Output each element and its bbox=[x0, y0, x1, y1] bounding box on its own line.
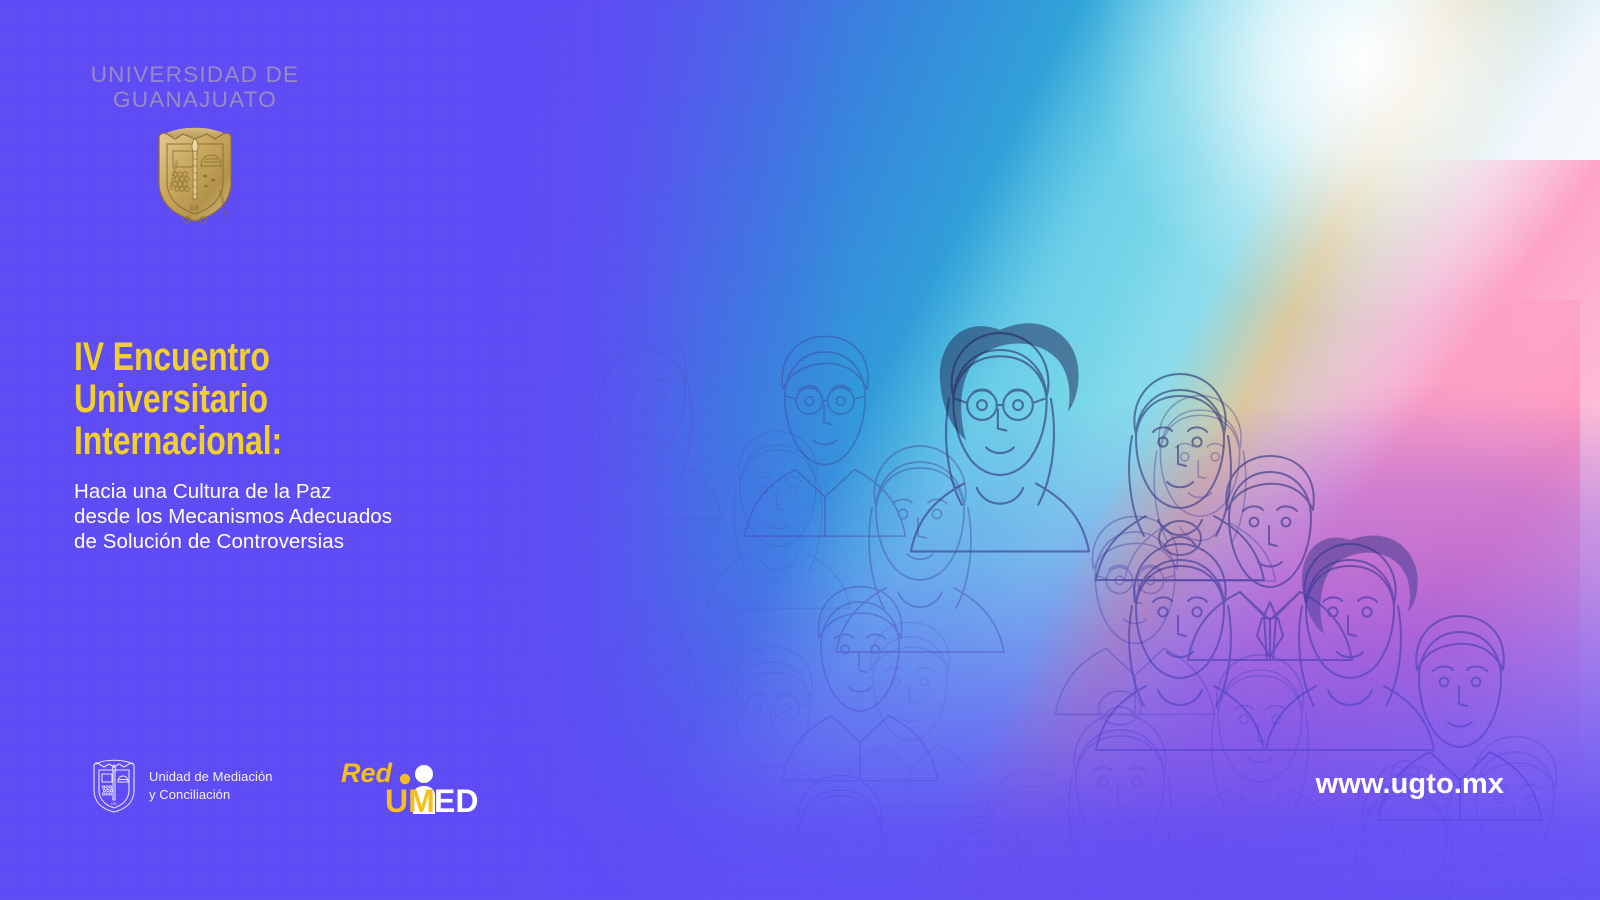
poster-content: UNIVERSIDAD DE GUANAJUATO bbox=[0, 0, 1600, 900]
poster-canvas: UNIVERSIDAD DE GUANAJUATO bbox=[0, 0, 1600, 900]
university-wordmark: UNIVERSIDAD DE GUANAJUATO bbox=[70, 62, 320, 112]
website-url[interactable]: www.ugto.mx bbox=[1316, 768, 1504, 801]
unidad-mediacion-lockup: DE Unidad de Mediación y Conciliación bbox=[90, 758, 273, 814]
university-brand: UNIVERSIDAD DE GUANAJUATO bbox=[70, 62, 320, 226]
title-block: IV Encuentro Universitario Internacional… bbox=[74, 336, 504, 554]
red-umed-word-um: UM bbox=[385, 783, 435, 814]
svg-text:DE: DE bbox=[190, 206, 200, 212]
red-umed-logo[interactable]: Red UM ED bbox=[337, 752, 497, 814]
svg-text:DE: DE bbox=[111, 801, 117, 806]
event-subtitle: Hacia una Cultura de la Paz desde los Me… bbox=[74, 479, 504, 555]
event-title: IV Encuentro Universitario Internacional… bbox=[74, 336, 506, 463]
ug-coat-of-arms-icon: LA VERDAD OS HARA LIBRES UNIVERSIDAD GUA… bbox=[143, 120, 247, 226]
ug-shield-outline-icon: DE bbox=[90, 758, 138, 814]
red-umed-word-ed: ED bbox=[434, 783, 478, 814]
unidad-mediacion-label: Unidad de Mediación y Conciliación bbox=[149, 768, 273, 804]
